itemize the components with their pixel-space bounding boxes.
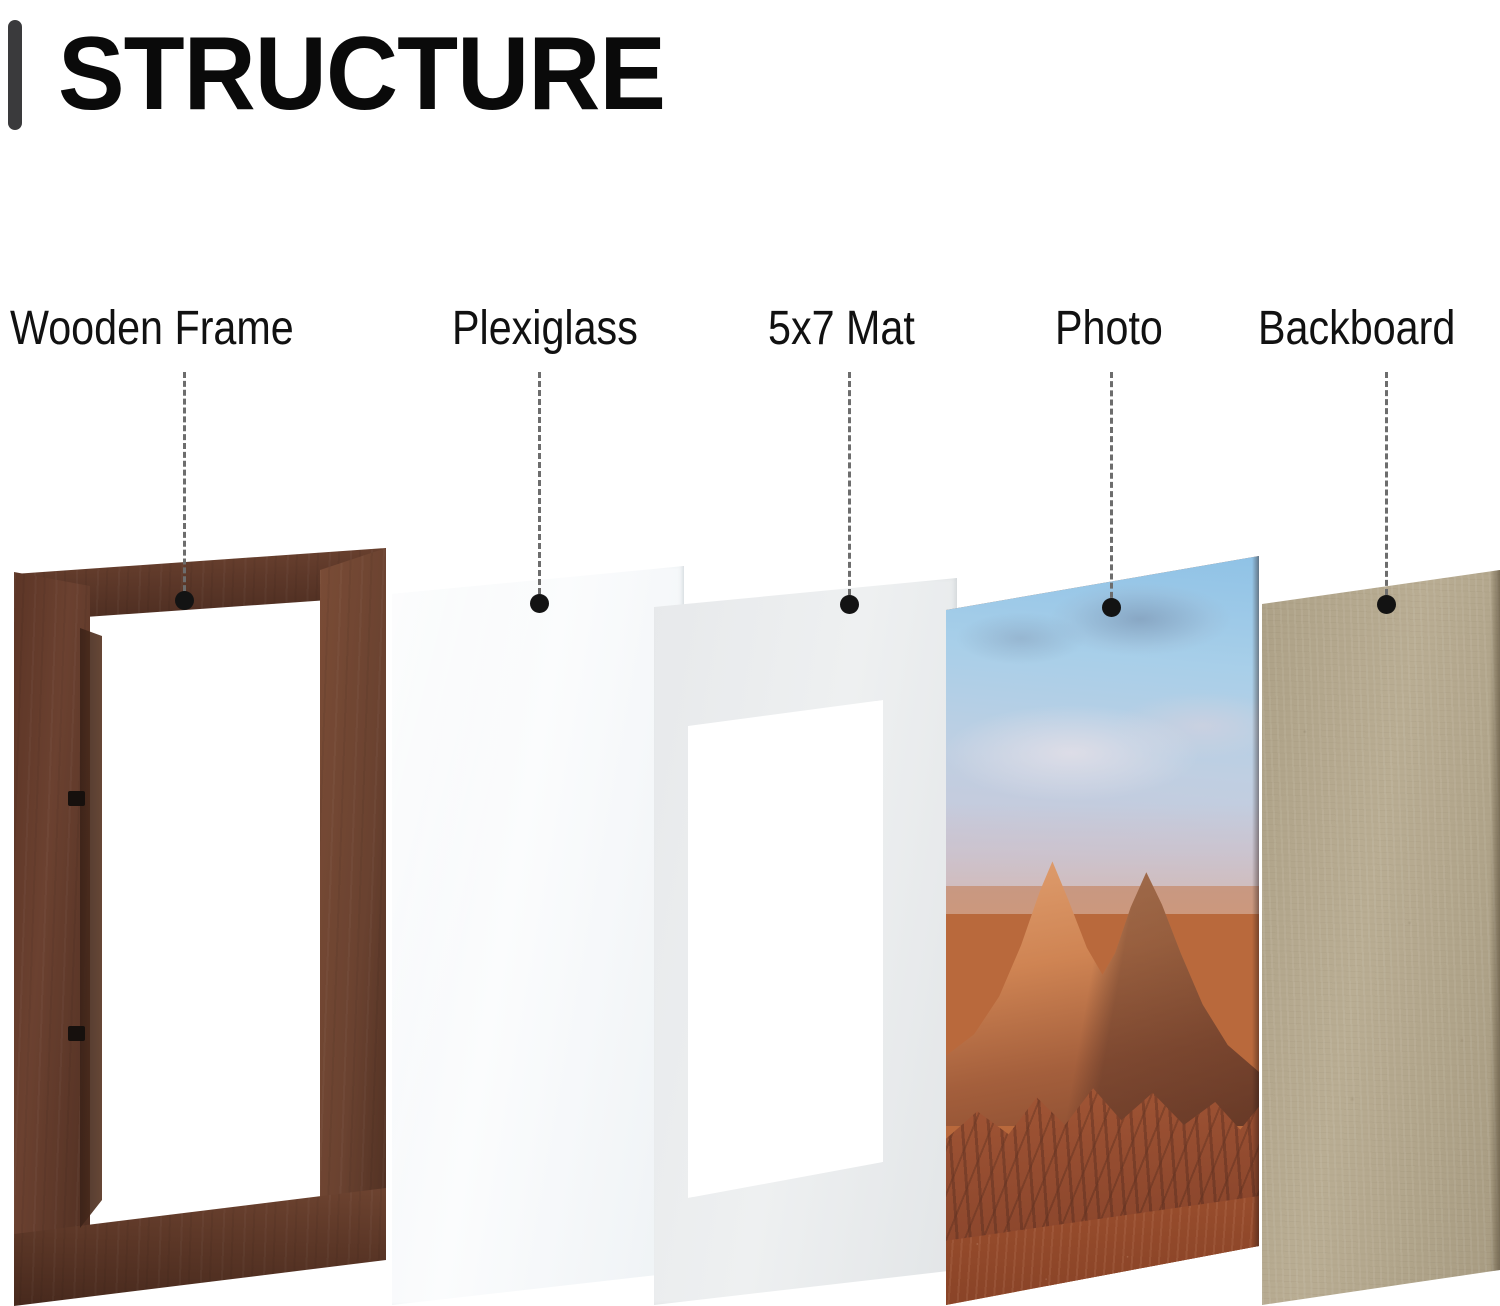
- label-plexiglass: Plexiglass: [452, 300, 638, 358]
- frame-inner-rabbet: [80, 628, 102, 1228]
- leader-line-wooden-frame: [183, 372, 186, 600]
- leader-line-backboard: [1385, 372, 1388, 604]
- leader-dot-plexiglass: [530, 594, 549, 613]
- leader-dot-backboard: [1377, 595, 1396, 614]
- layer-photo: [946, 556, 1259, 1305]
- photo-atmospheric-haze: [946, 804, 1259, 914]
- leader-line-plexiglass: [538, 372, 541, 603]
- backboard-fiber-texture: [1262, 570, 1500, 1305]
- label-backboard: Backboard: [1258, 300, 1455, 358]
- layer-plexiglass: [392, 566, 684, 1305]
- layer-wooden-frame: [8, 548, 393, 1305]
- leader-dot-photo: [1102, 598, 1121, 617]
- label-wooden-frame: Wooden Frame: [10, 300, 294, 358]
- exploded-view-diagram: [0, 0, 1500, 1305]
- frame-clip-upper: [68, 791, 85, 806]
- leader-line-photo: [1110, 372, 1113, 607]
- mat-window-cutout: [688, 700, 883, 1198]
- leader-dot-wooden-frame: [175, 591, 194, 610]
- label-mat-5x7: 5x7 Mat: [768, 300, 915, 358]
- photo-right-edge: [1252, 556, 1259, 1305]
- layer-mat: [654, 578, 957, 1305]
- layer-backboard: [1262, 570, 1500, 1305]
- photo-cloud-lower: [946, 666, 1259, 816]
- label-photo: Photo: [1055, 300, 1163, 358]
- frame-clip-lower: [68, 1026, 85, 1041]
- backboard-right-edge: [1490, 570, 1500, 1305]
- leader-dot-mat-5x7: [840, 595, 859, 614]
- leader-line-mat-5x7: [848, 372, 851, 604]
- plexiglass-sheen: [392, 566, 684, 1305]
